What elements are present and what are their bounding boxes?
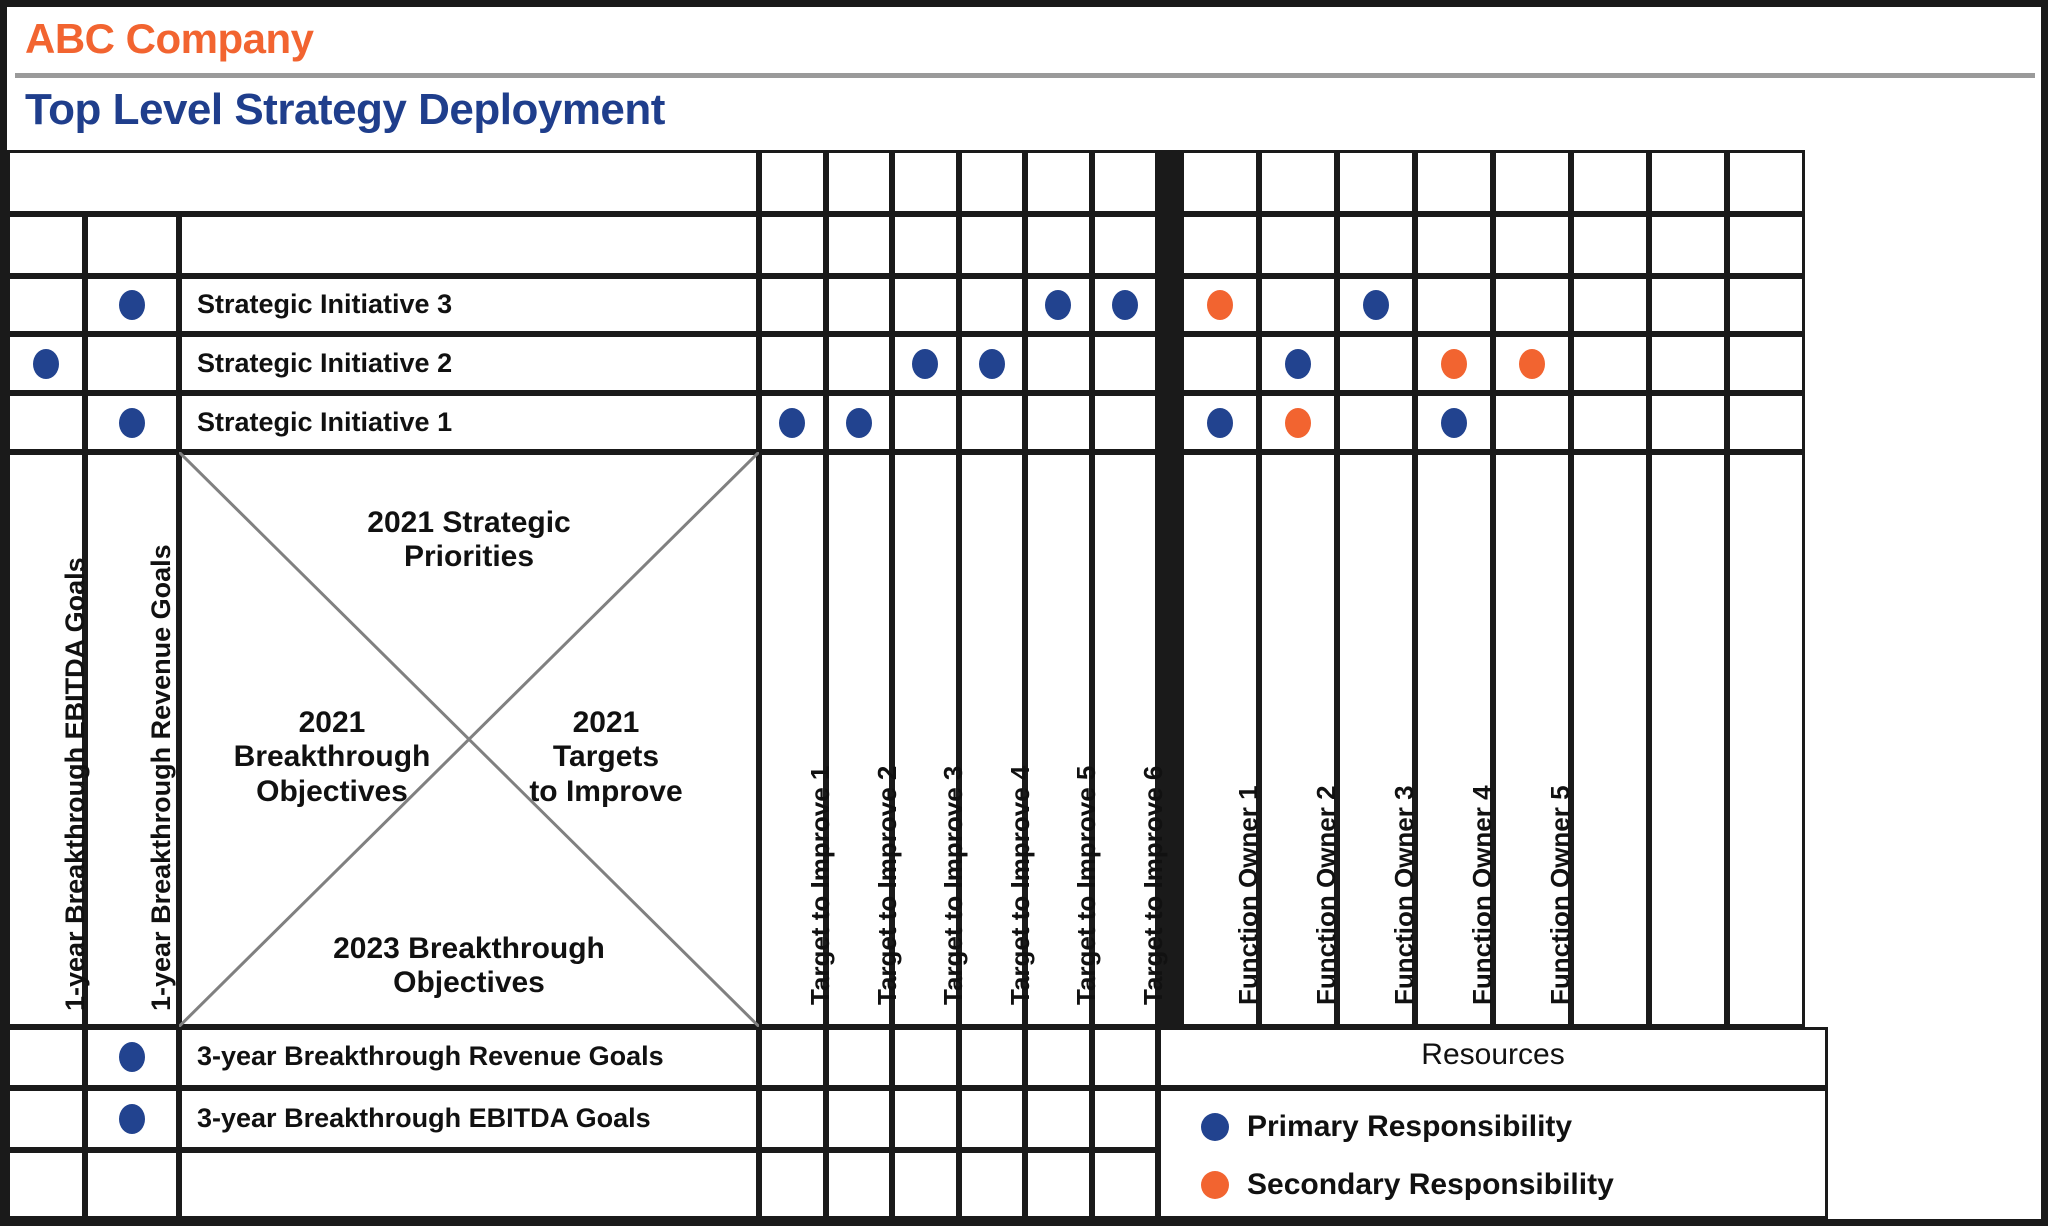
- target-primary-dot: [1112, 290, 1138, 320]
- target-column-label: Target to Improve 1: [805, 765, 836, 1004]
- initiative-resource-cell[interactable]: [1181, 334, 1259, 393]
- blank-cell: [959, 214, 1026, 275]
- legend-item: Secondary Responsibility: [1201, 1168, 1614, 1202]
- top-strip-resource-slot: [1727, 150, 1805, 214]
- resource-column-header-cell[interactable]: [1649, 452, 1727, 1027]
- quadrant-targets-to-improve: 2021Targetsto Improve: [481, 706, 731, 810]
- top-strip-resource-slot: [1571, 150, 1649, 214]
- blank-cell: [759, 1150, 826, 1219]
- blank-cell: [1259, 214, 1337, 275]
- target-column-label: Target to Improve 3: [938, 765, 969, 1004]
- bottom-row-ebitda-cell[interactable]: [7, 1027, 85, 1088]
- initiative-target-cell[interactable]: [1092, 334, 1159, 393]
- bottom-row-target-cell[interactable]: [1025, 1088, 1092, 1149]
- blank-cell: [959, 1150, 1026, 1219]
- bottom-row-target-cell[interactable]: [826, 1027, 893, 1088]
- bottom-row-target-cell[interactable]: [959, 1027, 1026, 1088]
- blank-cell: [1337, 214, 1415, 275]
- legend-secondary-dot: [1201, 1171, 1229, 1199]
- initiative-revenue-dot: [119, 290, 145, 320]
- initiative-resource-cell[interactable]: [1727, 276, 1805, 335]
- top-strip-resource-slot: [1415, 150, 1493, 214]
- axis-label-revenue: 1-year Breakthrough Revenue Goals: [146, 544, 177, 1011]
- initiative-resource-cell[interactable]: [1415, 276, 1493, 335]
- blank-cell: [1649, 214, 1727, 275]
- bottom-row-target-cell[interactable]: [1025, 1027, 1092, 1088]
- initiative-resource-cell[interactable]: [1649, 276, 1727, 335]
- quadrant-breakthrough-objectives-2021: 2021BreakthroughObjectives: [207, 706, 457, 810]
- bottom-row-target-cell[interactable]: [759, 1027, 826, 1088]
- initiative-target-cell[interactable]: [892, 393, 959, 452]
- page-title: Top Level Strategy Deployment: [25, 85, 665, 135]
- company-name: ABC Company: [25, 15, 314, 63]
- top-strip-left: [7, 150, 759, 214]
- quadrant-breakthrough-objectives-2021-line: Breakthrough: [207, 740, 457, 775]
- quadrant-breakthrough-objectives-2023: 2023 BreakthroughObjectives: [249, 932, 689, 1001]
- top-strip-target-slot: [759, 150, 826, 214]
- resource-column-header-cell[interactable]: [1571, 452, 1649, 1027]
- top-strip-target-slot: [892, 150, 959, 214]
- resource-secondary-dot: [1519, 349, 1545, 379]
- quadrant-breakthrough-objectives-2023-line: 2023 Breakthrough: [249, 932, 689, 967]
- resource-column-label: Function Owner 3: [1389, 785, 1420, 1005]
- top-strip-resource-slot: [1337, 150, 1415, 214]
- initiative-target-cell[interactable]: [1025, 393, 1092, 452]
- blank-cell: [7, 214, 85, 275]
- initiative-resource-cell[interactable]: [1571, 393, 1649, 452]
- resource-secondary-dot: [1441, 349, 1467, 379]
- blank-cell: [85, 214, 179, 275]
- initiative-resource-cell[interactable]: [1493, 393, 1571, 452]
- target-column-label: Target to Improve 6: [1138, 765, 1169, 1004]
- resource-primary-dot: [1363, 290, 1389, 320]
- bottom-row-label: 3-year Breakthrough Revenue Goals: [197, 1041, 664, 1072]
- initiative-revenue-cell[interactable]: [85, 334, 179, 393]
- bottom-row-target-cell[interactable]: [959, 1088, 1026, 1149]
- title-divider: [15, 73, 2035, 78]
- initiative-resource-cell[interactable]: [1337, 393, 1415, 452]
- target-column-label: Target to Improve 2: [872, 765, 903, 1004]
- blank-cell: [1181, 214, 1259, 275]
- blank-cell: [1092, 1150, 1159, 1219]
- resource-column-label: Function Owner 2: [1311, 785, 1342, 1005]
- resource-secondary-dot: [1207, 290, 1233, 320]
- quadrant-breakthrough-objectives-2023-line: Objectives: [249, 966, 689, 1001]
- blank-cell: [892, 214, 959, 275]
- initiative-resource-cell[interactable]: [1727, 393, 1805, 452]
- quadrant-strategic-priorities: 2021 StrategicPriorities: [269, 506, 669, 575]
- resource-column-header-cell[interactable]: [1727, 452, 1805, 1027]
- top-strip-target-slot: [1025, 150, 1092, 214]
- blank-cell: [179, 1150, 759, 1219]
- target-primary-dot: [979, 349, 1005, 379]
- blank-cell: [1571, 214, 1649, 275]
- initiative-label: Strategic Initiative 2: [197, 348, 452, 379]
- quadrant-breakthrough-objectives-2021-line: 2021: [207, 706, 457, 741]
- bottom-row-target-cell[interactable]: [1092, 1027, 1159, 1088]
- bottom-row-target-cell[interactable]: [892, 1088, 959, 1149]
- blank-cell: [1493, 214, 1571, 275]
- quadrant-targets-to-improve-line: to Improve: [481, 775, 731, 810]
- resource-primary-dot: [1285, 349, 1311, 379]
- target-primary-dot: [779, 408, 805, 438]
- target-column-label: Target to Improve 4: [1005, 765, 1036, 1004]
- quadrant-strategic-priorities-line: Priorities: [269, 540, 669, 575]
- initiative-resource-cell[interactable]: [1649, 393, 1727, 452]
- top-strip-target-slot: [826, 150, 893, 214]
- initiative-revenue-dot: [119, 408, 145, 438]
- top-strip-resource-slot: [1649, 150, 1727, 214]
- bottom-row-target-cell[interactable]: [759, 1088, 826, 1149]
- initiative-target-cell[interactable]: [759, 334, 826, 393]
- initiative-ebitda-cell[interactable]: [7, 393, 85, 452]
- initiative-target-cell[interactable]: [892, 276, 959, 335]
- axis-label-ebitda: 1-year Breakthrough EBITDA Goals: [60, 557, 91, 1011]
- initiative-resource-cell[interactable]: [1727, 334, 1805, 393]
- top-strip-target-slot: [1092, 150, 1159, 214]
- blank-cell: [179, 214, 759, 275]
- initiative-target-cell[interactable]: [1092, 393, 1159, 452]
- initiative-target-cell[interactable]: [759, 276, 826, 335]
- blank-cell: [892, 1150, 959, 1219]
- bottom-row-ebitda-cell[interactable]: [7, 1088, 85, 1149]
- legend-primary-dot: [1201, 1113, 1229, 1141]
- matrix-grid: Strategic Initiative 3Strategic Initiati…: [7, 150, 2041, 1219]
- legend-label: Secondary Responsibility: [1247, 1168, 1614, 1202]
- strategy-deployment-x-matrix: ABC Company Top Level Strategy Deploymen…: [0, 0, 2048, 1226]
- resource-column-label: Function Owner 5: [1545, 785, 1576, 1005]
- target-primary-dot: [912, 349, 938, 379]
- blank-cell: [826, 1150, 893, 1219]
- blank-cell: [759, 214, 826, 275]
- target-primary-dot: [1045, 290, 1071, 320]
- blank-cell: [1025, 214, 1092, 275]
- initiative-ebitda-cell[interactable]: [7, 276, 85, 335]
- blank-cell: [85, 1150, 179, 1219]
- quadrant-strategic-priorities-line: 2021 Strategic: [269, 506, 669, 541]
- blank-cell: [1092, 214, 1159, 275]
- resource-column-label: Function Owner 1: [1233, 785, 1264, 1005]
- initiative-resource-cell[interactable]: [1493, 276, 1571, 335]
- quadrant-targets-to-improve-line: 2021: [481, 706, 731, 741]
- initiative-label: Strategic Initiative 3: [197, 289, 452, 320]
- initiative-resource-cell[interactable]: [1571, 276, 1649, 335]
- top-strip-resource-slot: [1181, 150, 1259, 214]
- quadrant-breakthrough-objectives-2021-line: Objectives: [207, 775, 457, 810]
- top-strip-resource-slot: [1259, 150, 1337, 214]
- resource-primary-dot: [1207, 408, 1233, 438]
- bottom-row-target-cell[interactable]: [1092, 1088, 1159, 1149]
- initiative-target-cell[interactable]: [1025, 334, 1092, 393]
- title-block: ABC Company Top Level Strategy Deploymen…: [7, 7, 2041, 150]
- bottom-row-revenue-dot: [119, 1104, 145, 1134]
- initiative-ebitda-dot: [33, 349, 59, 379]
- initiative-target-cell[interactable]: [826, 276, 893, 335]
- legend-item: Primary Responsibility: [1201, 1110, 1572, 1144]
- initiative-target-cell[interactable]: [959, 276, 1026, 335]
- bottom-row-target-cell[interactable]: [892, 1027, 959, 1088]
- initiative-resource-cell[interactable]: [1259, 276, 1337, 335]
- initiative-label: Strategic Initiative 1: [197, 407, 452, 438]
- blank-cell: [7, 1150, 85, 1219]
- bottom-row-revenue-dot: [119, 1042, 145, 1072]
- resource-primary-dot: [1441, 408, 1467, 438]
- legend-label: Primary Responsibility: [1247, 1110, 1572, 1144]
- initiative-resource-cell[interactable]: [1649, 334, 1727, 393]
- bottom-row-label: 3-year Breakthrough EBITDA Goals: [197, 1103, 651, 1134]
- top-strip-resource-slot: [1493, 150, 1571, 214]
- blank-cell: [1025, 1150, 1092, 1219]
- resource-secondary-dot: [1285, 408, 1311, 438]
- resource-column-label: Function Owner 4: [1467, 785, 1498, 1005]
- target-primary-dot: [846, 408, 872, 438]
- initiative-target-cell[interactable]: [959, 393, 1026, 452]
- resources-title: Resources: [1158, 1038, 1828, 1072]
- top-strip-target-slot: [959, 150, 1026, 214]
- blank-cell: [1727, 214, 1805, 275]
- blank-cell: [826, 214, 893, 275]
- initiative-resource-cell[interactable]: [1571, 334, 1649, 393]
- bottom-row-target-cell[interactable]: [826, 1088, 893, 1149]
- target-column-label: Target to Improve 5: [1071, 765, 1102, 1004]
- initiative-target-cell[interactable]: [826, 334, 893, 393]
- initiative-resource-cell[interactable]: [1337, 334, 1415, 393]
- blank-cell: [1415, 214, 1493, 275]
- quadrant-targets-to-improve-line: Targets: [481, 740, 731, 775]
